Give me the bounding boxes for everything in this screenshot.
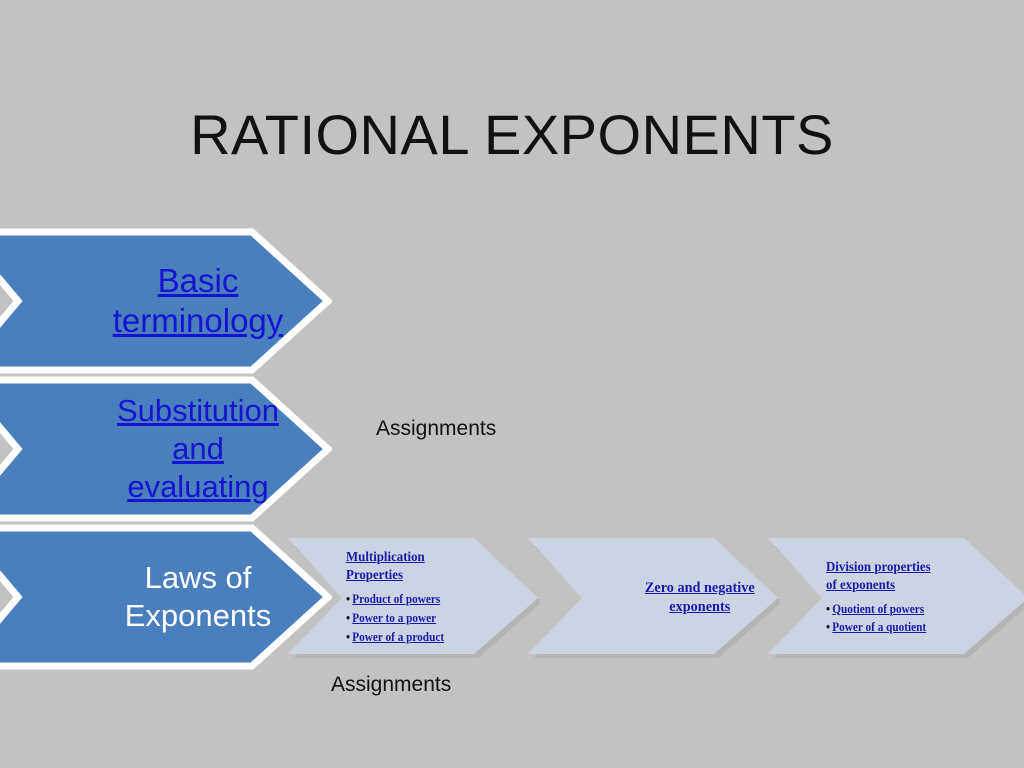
division-heading-line2[interactable]: of exponents bbox=[826, 577, 1024, 595]
chevron-laws-label: Laws of Exponents bbox=[0, 524, 386, 670]
list-item[interactable]: Quotient of powers bbox=[826, 600, 1024, 619]
list-item[interactable]: Power of a quotient bbox=[826, 618, 1024, 637]
chevron-substitution-and-evaluating[interactable]: Substitution and evaluating bbox=[0, 376, 332, 522]
link-substitution-line2[interactable]: and bbox=[172, 430, 224, 468]
zero-heading[interactable]: Zero and negative exponents bbox=[645, 579, 755, 618]
zero-heading-line1[interactable]: Zero and negative bbox=[645, 579, 755, 599]
link-substitution-line1[interactable]: Substitution bbox=[117, 392, 279, 430]
page-title: RATIONAL EXPONENTS bbox=[0, 104, 1024, 166]
laws-line1: Laws of bbox=[145, 559, 252, 597]
laws-line2: Exponents bbox=[125, 597, 272, 635]
zero-heading-line2[interactable]: exponents bbox=[645, 598, 755, 618]
division-bullet-list: Quotient of powers Power of a quotient bbox=[826, 600, 1024, 638]
slide-canvas: RATIONAL EXPONENTS Basic terminology Sub… bbox=[0, 0, 1024, 768]
link-basic-line1[interactable]: Basic bbox=[158, 261, 239, 301]
link-basic-line2[interactable]: terminology bbox=[113, 301, 284, 341]
chevron-basic-terminology[interactable]: Basic terminology bbox=[0, 228, 332, 374]
assignments-label-bottom: Assignments bbox=[331, 673, 451, 697]
link-substitution-line3[interactable]: evaluating bbox=[127, 468, 268, 506]
assignments-label-top: Assignments bbox=[376, 417, 496, 441]
division-heading-line1[interactable]: Division properties bbox=[826, 559, 1024, 577]
chevron-laws-of-exponents[interactable]: Laws of Exponents bbox=[0, 524, 332, 670]
division-heading[interactable]: Division properties of exponents bbox=[826, 559, 1024, 595]
chevron-substitution-label: Substitution and evaluating bbox=[0, 376, 386, 522]
chevron-basic-terminology-label: Basic terminology bbox=[0, 228, 386, 374]
